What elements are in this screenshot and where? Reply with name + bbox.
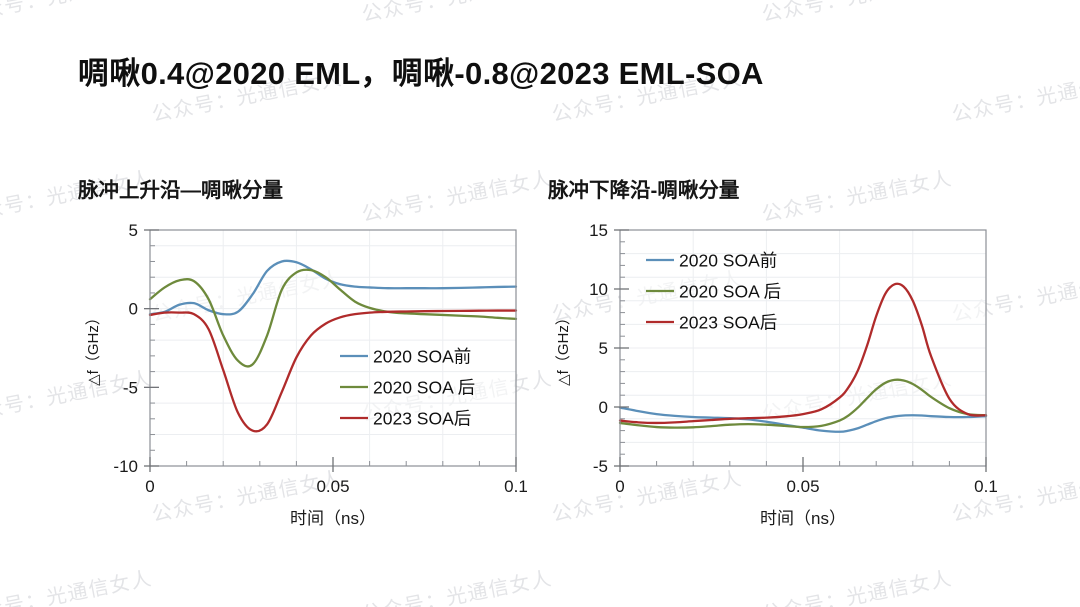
watermark-text: 公众号：光通信女人 xyxy=(759,0,954,27)
watermark-text: 公众号：光通信女人 xyxy=(759,562,954,607)
legend-label-1: 2020 SOA 后 xyxy=(373,378,475,398)
chart-svg-falling-edge: 00.050.1时间（ns）151050-5△f（GHz）2020 SOA前20… xyxy=(532,212,1002,532)
y-tick-label: 5 xyxy=(129,221,138,240)
chart-falling-edge: 00.050.1时间（ns）151050-5△f（GHz）2020 SOA前20… xyxy=(532,212,1002,532)
x-tick-label: 0 xyxy=(145,477,154,496)
x-tick-label: 0.1 xyxy=(974,477,998,496)
x-axis-title: 时间（ns） xyxy=(290,509,376,528)
y-tick-label: 0 xyxy=(129,300,138,319)
legend-label-1: 2020 SOA 后 xyxy=(679,282,781,302)
page-title: 啁啾0.4@2020 EML，啁啾-0.8@2023 EML-SOA xyxy=(78,48,764,93)
watermark-text: 公众号：光通信女人 xyxy=(359,562,554,607)
y-tick-label: 5 xyxy=(599,339,608,358)
x-axis-title: 时间（ns） xyxy=(760,509,846,528)
watermark-text: 公众号：光通信女人 xyxy=(949,62,1080,127)
y-tick-label: -5 xyxy=(123,378,138,397)
x-tick-label: 0.05 xyxy=(786,477,819,496)
slide-canvas: 公众号：光通信女人公众号：光通信女人公众号：光通信女人公众号：光通信女人公众号：… xyxy=(0,0,1080,607)
x-tick-label: 0 xyxy=(615,477,624,496)
y-tick-label: -5 xyxy=(593,457,608,476)
watermark-text: 公众号：光通信女人 xyxy=(359,0,554,27)
y-tick-label: -10 xyxy=(113,457,138,476)
legend-label-2: 2023 SOA后 xyxy=(373,409,471,429)
y-tick-label: 10 xyxy=(589,280,608,299)
chart-title-rising-edge: 脉冲上升沿—啁啾分量 xyxy=(78,173,283,203)
chart-svg-rising-edge: 00.050.1时间（ns）50-5-10△f（GHz）2020 SOA前202… xyxy=(62,212,532,532)
legend-label-0: 2020 SOA前 xyxy=(373,347,471,367)
legend-label-0: 2020 SOA前 xyxy=(679,251,777,271)
x-tick-label: 0.1 xyxy=(504,477,528,496)
y-axis-title: △f（GHz） xyxy=(85,310,102,386)
chart-title-falling-edge: 脉冲下降沿-啁啾分量 xyxy=(548,173,739,203)
legend-label-2: 2023 SOA后 xyxy=(679,313,777,333)
y-tick-label: 0 xyxy=(599,398,608,417)
watermark-text: 公众号：光通信女人 xyxy=(0,0,154,27)
chart-rising-edge: 00.050.1时间（ns）50-5-10△f（GHz）2020 SOA前202… xyxy=(62,212,532,532)
y-tick-label: 15 xyxy=(589,221,608,240)
watermark-text: 公众号：光通信女人 xyxy=(0,562,154,607)
y-axis-title: △f（GHz） xyxy=(555,310,572,386)
x-tick-label: 0.05 xyxy=(316,477,349,496)
